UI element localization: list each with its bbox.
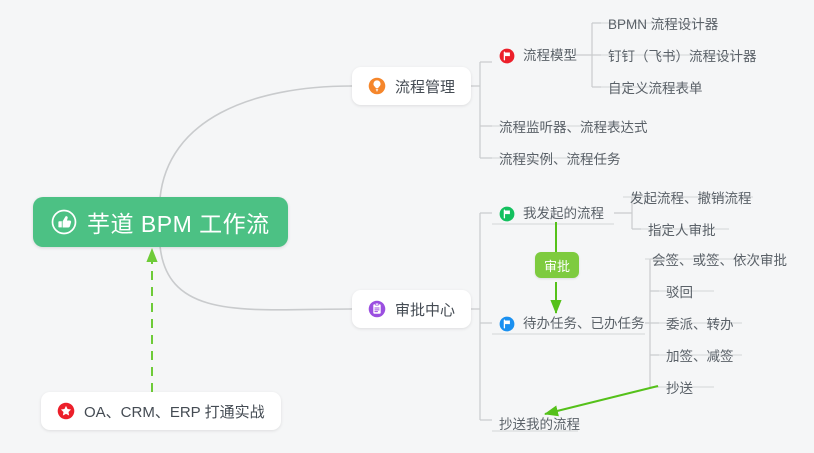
node-process-model-label: 流程模型	[523, 49, 577, 63]
callout-node-label: OA、CRM、ERP 打通实战	[84, 401, 265, 422]
node-custom-process-form-label: 自定义流程表单	[608, 82, 703, 96]
node-start-cancel[interactable]: 发起流程、撤销流程	[623, 183, 759, 209]
node-countersign[interactable]: 会签、或签、依次审批	[645, 245, 794, 271]
branch-process-management[interactable]: 流程管理	[352, 67, 471, 105]
node-my-initiated[interactable]: 我发起的流程	[492, 202, 611, 230]
node-listener-expression-label: 流程监听器、流程表达式	[499, 121, 648, 135]
callout-node[interactable]: OA、CRM、ERP 打通实战	[41, 392, 281, 430]
node-assignee-approval-label: 指定人审批	[648, 224, 716, 238]
node-process-model[interactable]: 流程模型	[492, 44, 584, 72]
node-todo-done-tasks[interactable]: 待办任务、已办任务	[492, 312, 652, 340]
node-start-cancel-label: 发起流程、撤销流程	[630, 192, 752, 206]
node-assignee-approval[interactable]: 指定人审批	[641, 215, 723, 241]
link-root-to-approval-center	[160, 246, 352, 310]
node-delegate-transfer-label: 委派、转办	[666, 318, 734, 332]
purple-clipboard-icon	[368, 300, 386, 318]
root-node[interactable]: 芋道 BPM 工作流	[33, 197, 288, 247]
branch-approval-center-label: 审批中心	[395, 299, 455, 320]
node-dingtalk-feishu-designer[interactable]: 钉钉（飞书）流程设计器	[601, 41, 764, 67]
red-star-icon	[57, 402, 75, 420]
approval-highlight-pill[interactable]: 审批	[535, 252, 579, 278]
thumbs-up-icon	[51, 209, 77, 235]
blue-flag-icon	[499, 316, 515, 332]
node-countersign-label: 会签、或签、依次审批	[652, 254, 787, 268]
node-instance-task[interactable]: 流程实例、流程任务	[492, 144, 628, 170]
node-reject-label: 驳回	[666, 286, 693, 300]
root-node-label: 芋道 BPM 工作流	[87, 205, 270, 239]
node-todo-done-tasks-label: 待办任务、已办任务	[523, 317, 645, 331]
node-bpmn-designer[interactable]: BPMN 流程设计器	[601, 9, 725, 35]
node-custom-process-form[interactable]: 自定义流程表单	[601, 73, 710, 99]
node-add-remove-sign-label: 加签、减签	[666, 350, 734, 364]
branch-approval-center[interactable]: 审批中心	[352, 290, 471, 328]
node-dingtalk-feishu-designer-label: 钉钉（飞书）流程设计器	[608, 50, 757, 64]
node-instance-task-label: 流程实例、流程任务	[499, 153, 621, 167]
node-delegate-transfer[interactable]: 委派、转办	[659, 309, 741, 335]
green-flag-icon	[499, 206, 515, 222]
mindmap-canvas: 芋道 BPM 工作流 OA、CRM、ERP 打通实战 审批 流程管理	[0, 0, 814, 453]
node-reject[interactable]: 驳回	[659, 277, 700, 303]
branch-process-management-label: 流程管理	[395, 76, 455, 97]
node-add-remove-sign[interactable]: 加签、减签	[659, 341, 741, 367]
node-carbon-copy[interactable]: 抄送	[659, 373, 700, 399]
node-carbon-copy-label: 抄送	[666, 382, 693, 396]
node-bpmn-designer-label: BPMN 流程设计器	[608, 18, 718, 32]
node-listener-expression[interactable]: 流程监听器、流程表达式	[492, 112, 655, 138]
node-cc-to-me-label: 抄送我的流程	[499, 418, 580, 432]
node-my-initiated-label: 我发起的流程	[523, 207, 604, 221]
red-flag-icon	[499, 48, 515, 64]
link-root-to-process-management	[160, 86, 352, 198]
node-cc-to-me[interactable]: 抄送我的流程	[492, 409, 587, 435]
approval-highlight-label: 审批	[544, 256, 570, 275]
orange-bulb-icon	[368, 77, 386, 95]
